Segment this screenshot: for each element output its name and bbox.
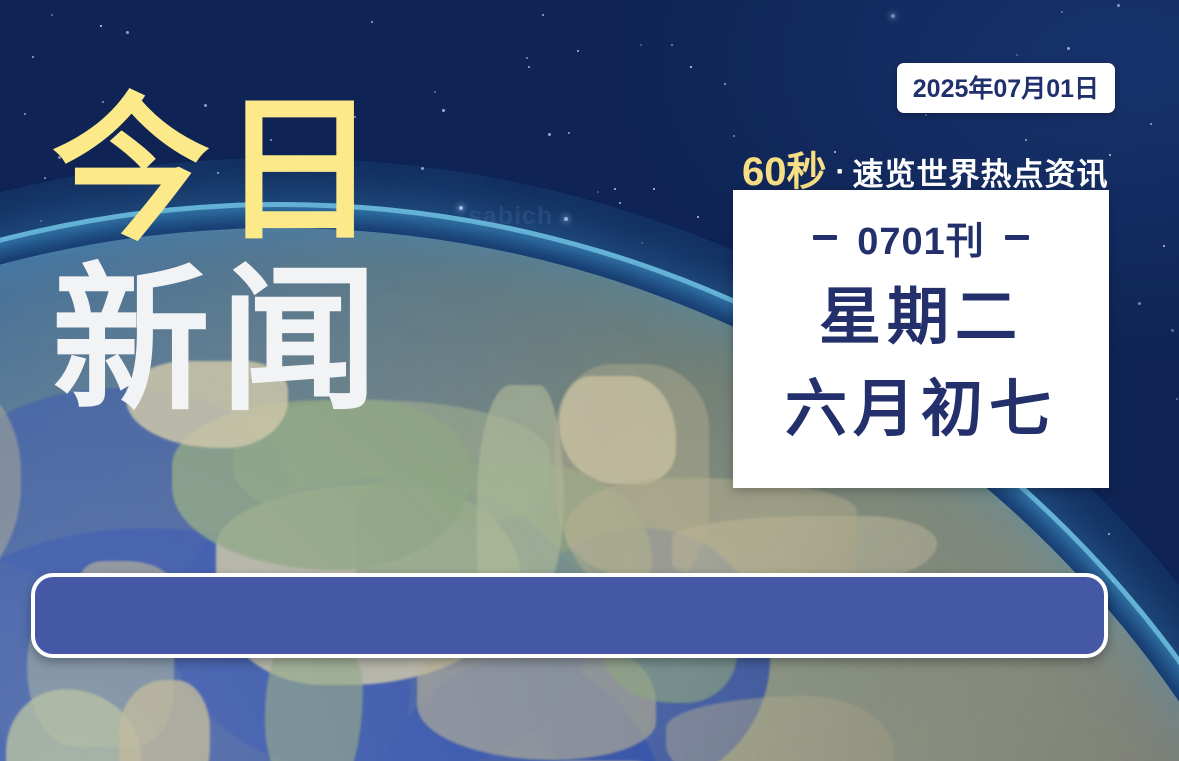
issue-info-card: 0701刊 星期二 六月初七 <box>733 190 1109 488</box>
issue-dash-right-icon <box>1005 235 1029 240</box>
weekday-label: 星期二 <box>819 287 1023 349</box>
foreground-layer: 今日 新闻 2025年07月01日 60秒 · 速览世界热点资讯 0701刊 星… <box>0 0 1179 761</box>
slogan-text: 速览世界热点资讯 <box>853 149 1109 194</box>
slogan-seconds: 60秒 <box>742 139 827 197</box>
news-poster: sabich 今日 新闻 2025年07月01日 60秒 · 速览世界热点资讯 … <box>0 0 1179 761</box>
slogan: 60秒 · 速览世界热点资讯 <box>742 139 1109 197</box>
date-badge: 2025年07月01日 <box>897 63 1115 113</box>
page-title-line-1: 今日 <box>52 96 388 248</box>
issue-row: 0701刊 <box>813 210 1029 265</box>
issue-dash-left-icon <box>813 235 837 240</box>
slogan-separator-icon: · <box>836 155 846 189</box>
page-title: 今日 新闻 <box>52 96 388 417</box>
headline-banner <box>31 573 1108 658</box>
page-title-line-2: 新闻 <box>52 266 388 418</box>
lunar-date-label: 六月初七 <box>785 379 1057 441</box>
issue-label: 0701刊 <box>857 210 985 265</box>
